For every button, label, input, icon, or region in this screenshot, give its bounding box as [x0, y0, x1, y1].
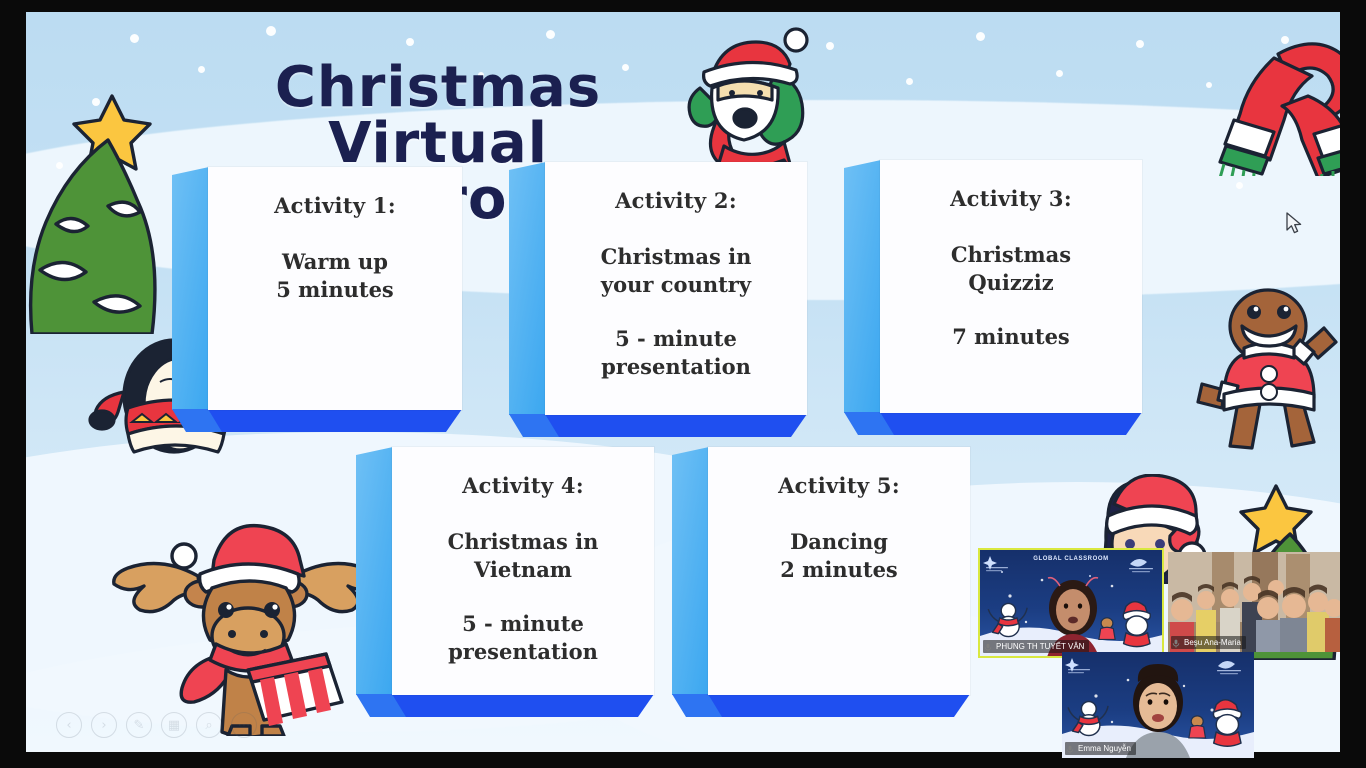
video-tile-students[interactable]: Beşu Ana-Maria: [1168, 552, 1340, 652]
card-base: [392, 694, 654, 717]
snowflake: [906, 78, 913, 85]
powerpoint-slideshow-toolbar[interactable]: ‹ › ✎ ▦ ⌕ ⋯: [56, 712, 257, 738]
card-face: Activity 1: Warm up 5 minutes: [208, 167, 462, 410]
gingerbread-man-icon: [1194, 284, 1340, 452]
activity-body: Christmas Quizziz: [894, 241, 1128, 297]
card-face: Activity 4: Christmas in Vietnam 5 - min…: [392, 447, 654, 695]
snowflake: [1236, 182, 1243, 189]
snowflake: [976, 32, 985, 41]
activity-extra: 5 - minute presentation: [559, 325, 793, 381]
activity-extra: 5 - minute presentation: [406, 610, 640, 666]
card-side-panel: [672, 447, 709, 695]
activity-card-4[interactable]: Activity 4: Christmas in Vietnam 5 - min…: [356, 447, 654, 717]
card-base: [708, 694, 970, 717]
card-side-panel: [509, 162, 546, 415]
title-line-1: Christmas Virtual: [275, 55, 601, 176]
previous-slide-button[interactable]: ‹: [56, 712, 82, 738]
card-base: [545, 414, 807, 437]
card-face: Activity 2: Christmas in your country 5 …: [545, 162, 807, 415]
activity-card-5[interactable]: Activity 5: Dancing 2 minutes: [672, 447, 970, 717]
all-slides-button[interactable]: ▦: [161, 712, 187, 738]
card-side-panel: [172, 167, 209, 410]
video-tile-presenter[interactable]: GLOBAL CLASSROOM PHUNG TH TUYẾT VÂN: [978, 548, 1164, 658]
more-options-button[interactable]: ⋯: [231, 712, 257, 738]
card-face: Activity 5: Dancing 2 minutes: [708, 447, 970, 695]
next-slide-button[interactable]: ›: [91, 712, 117, 738]
activity-heading: Activity 5:: [722, 473, 956, 498]
snowflake: [546, 30, 555, 39]
activity-body: Christmas in your country: [559, 243, 793, 299]
activity-heading: Activity 3:: [894, 186, 1128, 211]
mouse-cursor: [1286, 212, 1303, 240]
snowflake: [266, 26, 276, 36]
tile-brand-label: GLOBAL CLASSROOM: [1033, 556, 1109, 562]
activity-card-1[interactable]: Activity 1: Warm up 5 minutes: [172, 167, 462, 432]
activity-card-3[interactable]: Activity 3: Christmas Quizziz 7 minutes: [844, 160, 1142, 435]
snowflake: [406, 38, 414, 46]
card-face: Activity 3: Christmas Quizziz 7 minutes: [880, 160, 1142, 413]
card-side-panel: [356, 447, 393, 695]
scarf-icon: [1212, 24, 1340, 176]
activity-heading: Activity 2:: [559, 188, 793, 213]
participant-name: Beşu Ana-Maria: [1171, 636, 1246, 649]
activity-body: Dancing 2 minutes: [722, 528, 956, 584]
activity-body: Christmas in Vietnam: [406, 528, 640, 584]
snowflake: [1056, 70, 1063, 77]
card-base: [208, 409, 462, 432]
moose-icon: [98, 484, 398, 736]
video-tile-teacher[interactable]: Emma Nguyễn: [1062, 652, 1254, 758]
activity-heading: Activity 1:: [222, 193, 448, 218]
participant-name: Emma Nguyễn: [1065, 742, 1136, 755]
activity-heading: Activity 4:: [406, 473, 640, 498]
card-side-panel: [844, 160, 881, 413]
screen-capture: Christmas Virtual Classroom: [0, 0, 1366, 768]
activity-body: Warm up 5 minutes: [222, 248, 448, 304]
activity-extra: 7 minutes: [894, 323, 1128, 351]
snowflake: [130, 34, 139, 43]
pen-tool-button[interactable]: ✎: [126, 712, 152, 738]
card-base: [880, 412, 1142, 435]
zoom-button[interactable]: ⌕: [196, 712, 222, 738]
christmas-tree-left-icon: [26, 74, 166, 334]
snowflake: [1136, 40, 1144, 48]
activity-card-2[interactable]: Activity 2: Christmas in your country 5 …: [509, 162, 807, 437]
